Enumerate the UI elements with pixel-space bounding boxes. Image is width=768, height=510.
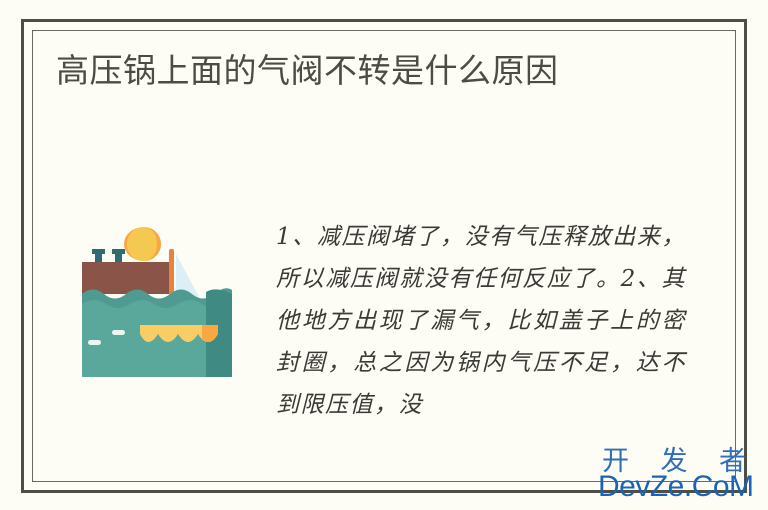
page-root: 高压锅上面的气阀不转是什么原因 (0, 0, 768, 510)
content-area: 高压锅上面的气阀不转是什么原因 (54, 48, 714, 470)
sailboat-seaside-icon (82, 222, 232, 377)
article-body-row: 1、减压阀堵了，没有气压释放出来，所以减压阀就没有任何反应了。2、其他地方出现了… (54, 216, 714, 449)
outer-border-frame: 高压锅上面的气阀不转是什么原因 (21, 19, 747, 493)
page-title: 高压锅上面的气阀不转是什么原因 (54, 48, 656, 94)
article-text: 1、减压阀堵了，没有气压释放出来，所以减压阀就没有任何反应了。2、其他地方出现了… (276, 216, 686, 426)
